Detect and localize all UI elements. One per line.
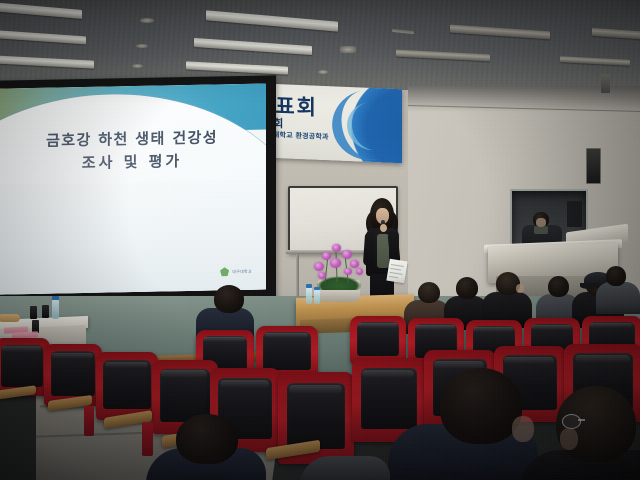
ceiling-downlight: [136, 44, 148, 48]
audience-member-head: [548, 276, 569, 297]
beverage-can: [30, 306, 37, 319]
orchid-bloom: [350, 260, 359, 268]
wall-speaker-icon: [586, 148, 601, 184]
audience-member-head: [176, 414, 238, 464]
photograph-seminar-hall: 발표회 발표회 : 대구대학교 환경공학과 금호강 하천 생태 건강성 조사 및…: [0, 0, 640, 480]
audience-member-head: [440, 368, 522, 444]
bottle-cap: [306, 284, 312, 288]
beverage-can: [42, 305, 49, 318]
slide-title-line1: 금호강 하천 생태 건강성: [46, 128, 218, 149]
presentation-slide: 금호강 하천 생태 건강성 조사 및 평가 대구대학교: [0, 83, 266, 294]
orchid-bloom: [322, 252, 331, 260]
audience-member-head: [418, 282, 440, 303]
water-bottle: [306, 288, 312, 304]
audience-member-body: [596, 282, 640, 314]
audience-member-body: [300, 456, 390, 480]
orchid-bloom: [318, 272, 326, 279]
booth-equipment: [567, 201, 582, 227]
logo-text: 대구대학교: [232, 268, 252, 274]
orchid-bloom: [330, 258, 341, 268]
snack-tray: [0, 314, 20, 322]
audience-member-head: [456, 277, 478, 299]
audience-member-head: [606, 266, 626, 286]
booth-operator-collar: [534, 226, 548, 234]
slide-university-logo: 대구대학교: [220, 267, 252, 277]
ceiling-vent: [340, 46, 356, 53]
bottle-cap: [52, 296, 59, 300]
orchid-bloom: [356, 268, 363, 275]
ceiling-downlight: [140, 18, 154, 23]
audience-face: [560, 428, 578, 450]
orchid-bloom: [344, 268, 352, 275]
auditorium-seat: [350, 316, 406, 364]
audience-face: [512, 416, 534, 442]
orchid-bloom: [314, 262, 324, 271]
slide-title: 금호강 하천 생태 건강성 조사 및 평가: [0, 125, 266, 175]
seat-armrest-post: [84, 406, 94, 436]
projection-screen-frame: 금호강 하천 생태 건강성 조사 및 평가 대구대학교: [0, 75, 276, 306]
logo-mark-icon: [220, 267, 229, 276]
presenter-papers: [386, 259, 407, 284]
ceiling-downlight: [132, 64, 143, 68]
cap-brim: [580, 283, 598, 289]
water-bottle: [314, 290, 320, 304]
booth-operator-face: [536, 218, 546, 227]
wall-sensor-icon: [601, 74, 610, 93]
orchid-bloom: [342, 250, 352, 259]
eyeglasses-bridge: [578, 419, 585, 421]
eyeglasses-icon: [562, 414, 581, 429]
presenter: [358, 198, 406, 310]
slide-body-area: [0, 179, 266, 294]
audience-face: [516, 284, 524, 293]
presenter-hand: [380, 224, 387, 232]
projection-screen-surface: 금호강 하천 생태 건강성 조사 및 평가 대구대학교: [0, 83, 266, 294]
orchid-bloom: [332, 244, 341, 252]
seat-armrest-post: [142, 422, 153, 456]
audience-member-head: [214, 285, 244, 313]
ceiling-downlight: [318, 70, 328, 74]
water-bottle: [52, 300, 59, 319]
bottle-cap: [314, 287, 320, 290]
